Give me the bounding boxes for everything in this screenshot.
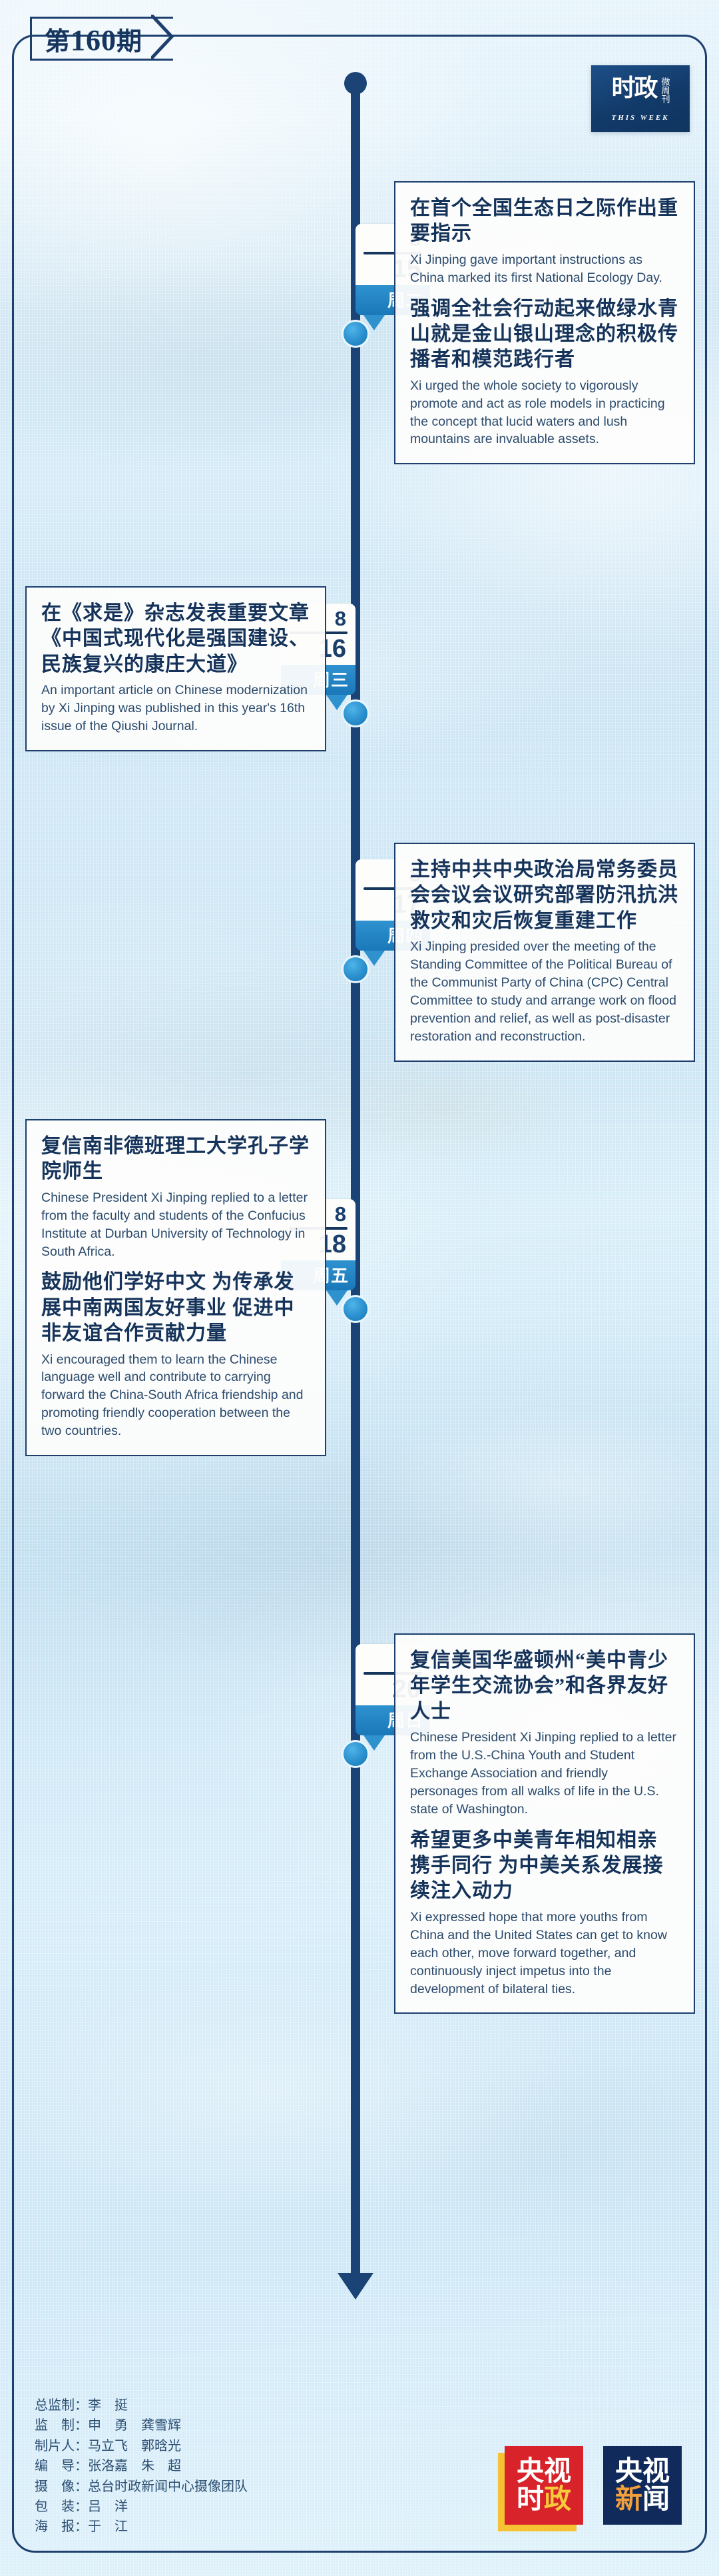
card-headline-cn: 复信美国华盛顿州“美中青少年学生交流协会”和各界友好人士 xyxy=(410,1648,679,1725)
cctv-shizheng-line2-a: 时 xyxy=(517,2483,544,2514)
cctv-xinwen-line2-a: 新 xyxy=(615,2483,642,2514)
card-headline-cn: 主持中共中央政治局常务委员会会议会议研究部署防汛抗洪救灾和灾后恢复重建工作 xyxy=(410,857,679,934)
card-body-en: Xi Jinping presided over the meeting of … xyxy=(410,938,679,1045)
masthead-logo: 时政 微周刊 THIS WEEK xyxy=(591,65,690,132)
card-body-en: An important article on Chinese moderniz… xyxy=(41,681,310,735)
masthead-title-en: THIS WEEK xyxy=(611,114,669,122)
timeline-card: 在首个全国生态日之际作出重要指示Xi Jinping gave importan… xyxy=(394,181,695,464)
issue-suffix: 期 xyxy=(117,28,142,56)
issue-prefix: 第 xyxy=(45,28,71,56)
credits-row: 摄 像：总台时政新闻中心摄像团队 xyxy=(35,2477,248,2497)
timeline-spine xyxy=(351,81,360,2274)
card-body-en: Chinese President Xi Jinping replied to … xyxy=(41,1189,310,1261)
timeline-card: 复信南非德班理工大学孔子学院师生Chinese President Xi Jin… xyxy=(25,1119,326,1456)
timeline-dot xyxy=(342,320,369,348)
cctv-xinwen-line1: 央视 xyxy=(615,2457,670,2485)
timeline-card: 复信美国华盛顿州“美中青少年学生交流协会”和各界友好人士Chinese Pres… xyxy=(394,1633,695,2014)
card-headline-cn: 希望更多中美青年相知相亲 携手同行 为中美关系发展接续注入动力 xyxy=(410,1828,679,1905)
cctv-shizheng-line2-b: 政 xyxy=(544,2483,571,2514)
masthead-subtitle-cn: 微周刊 xyxy=(660,77,669,108)
cctv-xinwen-logo: 央视 新闻 xyxy=(603,2446,682,2525)
card-body-en: Xi Jinping gave important instructions a… xyxy=(410,251,679,287)
card-headline-cn: 复信南非德班理工大学孔子学院师生 xyxy=(41,1134,310,1185)
card-body-en: Xi urged the whole society to vigorously… xyxy=(410,377,679,449)
card-headline-cn: 鼓励他们学好中文 为传承发展中南两国友好事业 促进中非友谊合作贡献力量 xyxy=(41,1270,310,1346)
timeline-dot xyxy=(342,955,369,983)
credits-row: 制片人：马立飞 郭晗光 xyxy=(35,2436,248,2456)
timeline-dot xyxy=(342,1740,369,1768)
credits-row: 编 导：张洛嘉 朱 超 xyxy=(35,2456,248,2476)
poster-canvas: 第160期 时政 微周刊 THIS WEEK 815周二在首个全国生态日之际作出… xyxy=(0,0,719,2576)
timeline-dot xyxy=(342,699,369,727)
credits-block: 总监制：李 挺监 制：申 勇 龚雪辉制片人：马立飞 郭晗光编 导：张洛嘉 朱 超… xyxy=(35,2395,248,2537)
card-body-en: Chinese President Xi Jinping replied to … xyxy=(410,1729,679,1819)
masthead-title-cn: 时政 xyxy=(611,76,656,100)
timeline-card: 在《求是》杂志发表重要文章《中国式现代化是强国建设、民族复兴的康庄大道》An i… xyxy=(25,586,326,751)
cctv-shizheng-line1: 央视 xyxy=(517,2457,571,2485)
issue-number-tag: 第160期 xyxy=(30,17,173,61)
timeline-card: 主持中共中央政治局常务委员会会议会议研究部署防汛抗洪救灾和灾后恢复重建工作Xi … xyxy=(394,843,695,1062)
issue-number: 160 xyxy=(71,24,117,57)
timeline-dot xyxy=(342,1295,369,1323)
card-headline-cn: 强调全社会行动起来做绿水青山就是金山银山理念的积极传播者和模范践行者 xyxy=(410,296,679,373)
credits-row: 包 装：吕 洋 xyxy=(35,2497,248,2517)
issue-tag-arrow-icon xyxy=(151,15,174,59)
cctv-xinwen-line2-b: 闻 xyxy=(642,2483,670,2514)
cctv-shizheng-logo: 央视 时政 xyxy=(505,2446,583,2525)
card-headline-cn: 在首个全国生态日之际作出重要指示 xyxy=(410,196,679,247)
timeline-end-arrow-icon xyxy=(338,2273,373,2300)
brand-logos: 央视 时政 央视 新闻 xyxy=(505,2446,682,2525)
credits-row: 总监制：李 挺 xyxy=(35,2395,248,2415)
card-headline-cn: 在《求是》杂志发表重要文章《中国式现代化是强国建设、民族复兴的康庄大道》 xyxy=(41,601,310,677)
credits-row: 海 报：于 江 xyxy=(35,2517,248,2537)
card-body-en: Xi expressed hope that more youths from … xyxy=(410,1909,679,1998)
card-body-en: Xi encouraged them to learn the Chinese … xyxy=(41,1351,310,1441)
credits-row: 监 制：申 勇 龚雪辉 xyxy=(35,2415,248,2435)
